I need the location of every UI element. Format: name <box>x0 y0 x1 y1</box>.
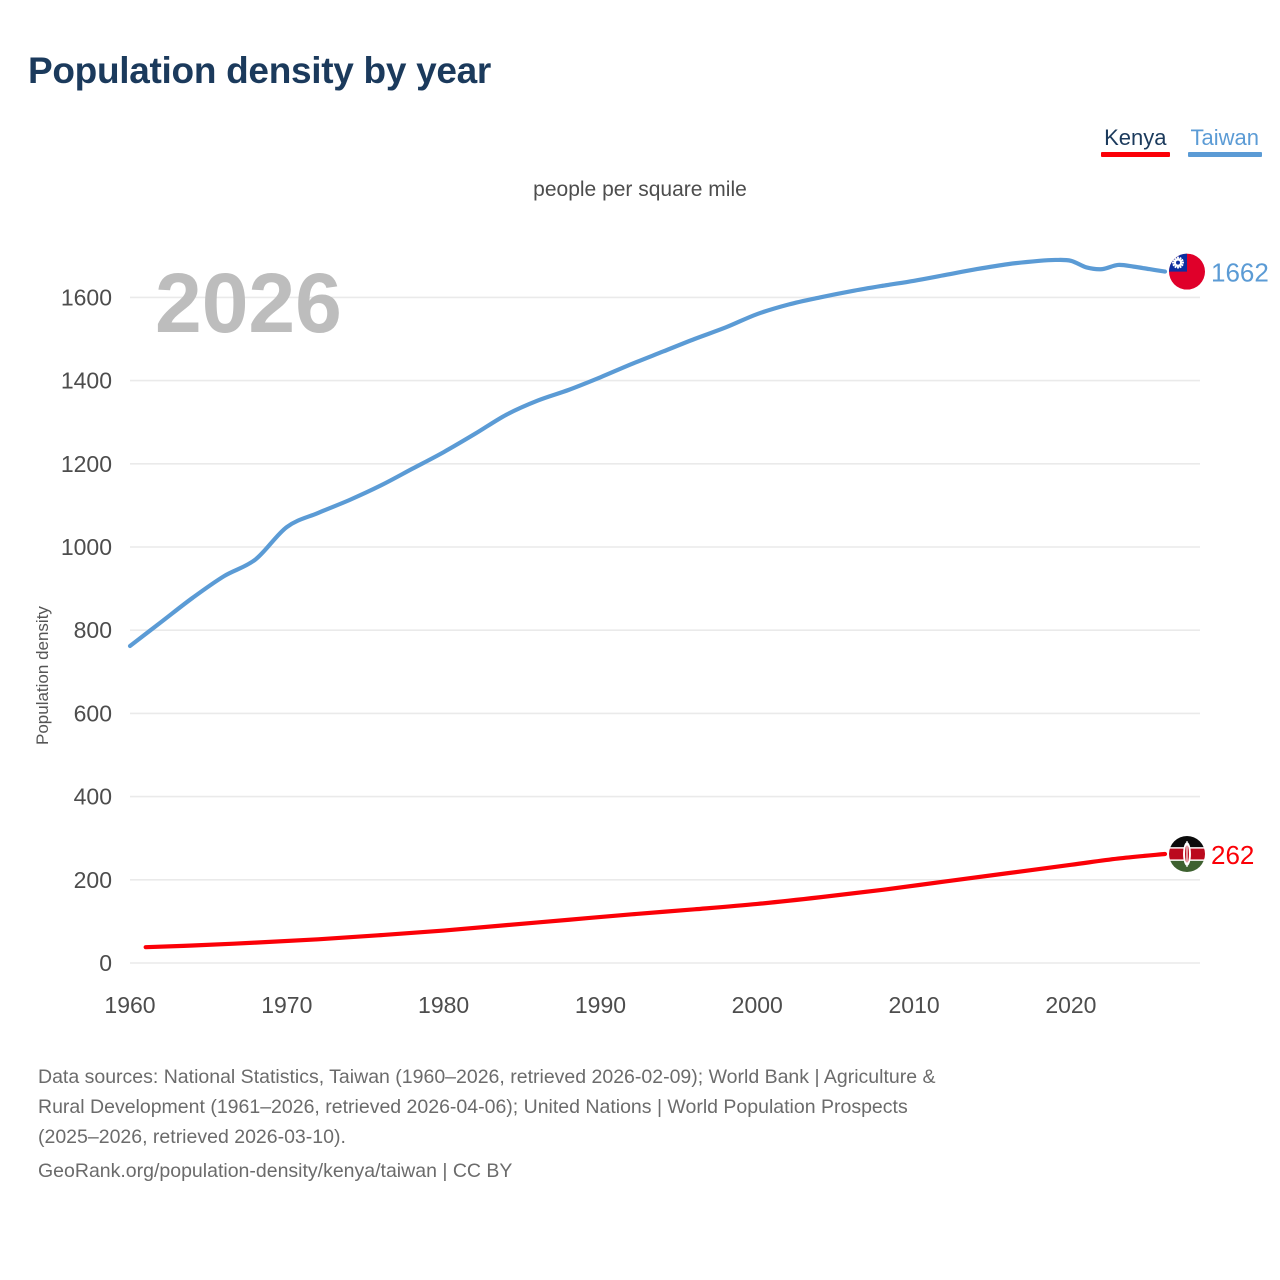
credit-line: GeoRank.org/population-density/kenya/tai… <box>38 1156 1218 1186</box>
end-value-kenya: 262 <box>1211 840 1254 870</box>
kenya-flag-icon[interactable] <box>1169 836 1205 872</box>
gridlines <box>130 297 1200 963</box>
chart-area: 02004006008001000120014001600 1960197019… <box>0 225 1280 1035</box>
legend-label-taiwan: Taiwan <box>1188 126 1262 152</box>
y-axis-title: Population density <box>33 606 52 745</box>
chart-legend: Kenya Taiwan <box>1101 126 1262 157</box>
year-watermark: 2026 <box>155 256 342 350</box>
y-tick-label: 1000 <box>61 534 112 560</box>
taiwan-flag-icon[interactable] <box>1169 254 1205 290</box>
source-line-3: (2025–2026, retrieved 2026-03-10). <box>38 1122 1218 1152</box>
series-line-kenya[interactable] <box>146 854 1165 947</box>
x-tick-label: 2000 <box>732 992 783 1018</box>
series-end-markers: 1662262 <box>1169 254 1269 872</box>
legend-label-kenya: Kenya <box>1101 126 1169 152</box>
series-lines <box>130 260 1165 947</box>
source-line-2: Rural Development (1961–2026, retrieved … <box>38 1092 1218 1122</box>
page-title: Population density by year <box>28 50 491 92</box>
y-tick-label: 600 <box>74 700 112 726</box>
chart-subtitle: people per square mile <box>0 178 1280 202</box>
x-tick-label: 1990 <box>575 992 626 1018</box>
chart-page: Population density by year Kenya Taiwan … <box>0 0 1280 1280</box>
x-tick-label: 1980 <box>418 992 469 1018</box>
x-tick-label: 1960 <box>104 992 155 1018</box>
y-tick-label: 0 <box>99 950 112 976</box>
legend-item-taiwan[interactable]: Taiwan <box>1188 126 1262 157</box>
x-tick-label: 1970 <box>261 992 312 1018</box>
x-axis-ticks: 1960197019801990200020102020 <box>104 992 1096 1018</box>
y-axis-ticks: 02004006008001000120014001600 <box>61 284 112 976</box>
footer-sources: Data sources: National Statistics, Taiwa… <box>38 1062 1218 1186</box>
legend-rule-taiwan <box>1188 152 1262 157</box>
y-tick-label: 800 <box>74 617 112 643</box>
y-tick-label: 1400 <box>61 368 112 394</box>
y-tick-label: 1200 <box>61 451 112 477</box>
y-tick-label: 200 <box>74 867 112 893</box>
legend-rule-kenya <box>1101 152 1169 157</box>
legend-item-kenya[interactable]: Kenya <box>1101 126 1169 157</box>
line-chart[interactable]: 02004006008001000120014001600 1960197019… <box>0 225 1280 1035</box>
x-tick-label: 2010 <box>889 992 940 1018</box>
end-value-taiwan: 1662 <box>1211 258 1269 288</box>
y-tick-label: 1600 <box>61 284 112 310</box>
y-tick-label: 400 <box>74 784 112 810</box>
x-tick-label: 2020 <box>1045 992 1096 1018</box>
chart-subtitle-text: people per square mile <box>533 178 747 202</box>
source-line-1: Data sources: National Statistics, Taiwa… <box>38 1062 1218 1092</box>
